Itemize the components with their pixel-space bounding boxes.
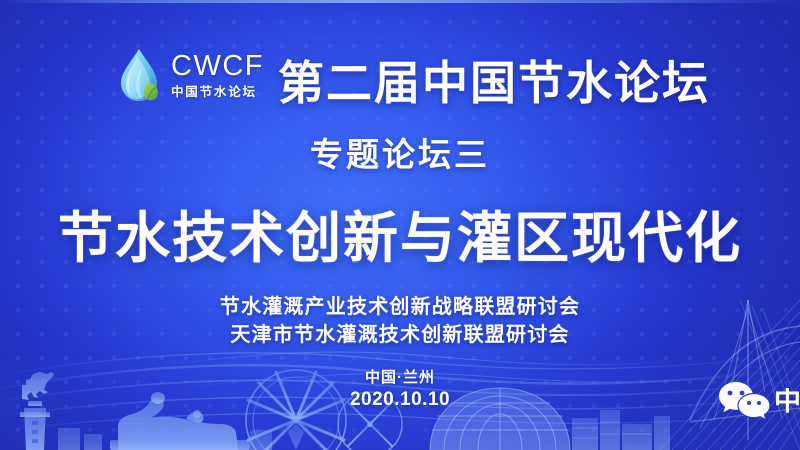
meeting-list: 节水灌溉产业技术创新战略联盟研讨会 天津市节水灌溉技术创新联盟研讨会 xyxy=(0,293,800,350)
conference-poster: CWCF 中国节水论坛 第二届中国节水论坛 专题论坛三 节水技术创新与灌区现代化… xyxy=(0,0,800,450)
venue-city: 中国·兰州 xyxy=(0,368,800,388)
headline: 节水技术创新与灌区现代化 xyxy=(0,193,800,273)
logo-acronym: CWCF xyxy=(171,52,264,81)
venue-block: 中国·兰州 2020.10.10 xyxy=(0,368,800,413)
cwcf-logo: CWCF 中国节水论坛 xyxy=(116,46,264,104)
venue-date: 2020.10.10 xyxy=(0,388,800,413)
meeting-line: 节水灌溉产业技术创新战略联盟研讨会 xyxy=(0,293,800,321)
meeting-line: 天津市节水灌溉技术创新联盟研讨会 xyxy=(0,321,800,349)
wechat-icon xyxy=(718,380,770,422)
water-drop-leaf-icon xyxy=(116,46,162,104)
wechat-watermark: 中 xyxy=(718,380,800,422)
page-title: 第二届中国节水论坛 xyxy=(278,47,710,113)
watermark-text: 中 xyxy=(774,388,800,415)
forum-label: 专题论坛三 xyxy=(0,128,800,176)
logo-chinese-name: 中国节水论坛 xyxy=(171,86,264,99)
